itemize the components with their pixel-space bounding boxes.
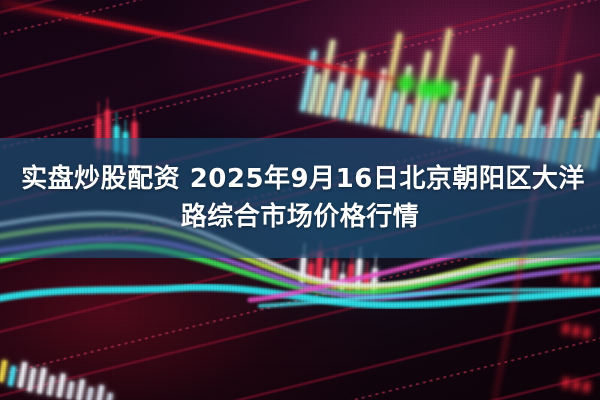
caption-line-1: 实盘炒股配资 2025年9月16日北京朝阳区大洋 — [15, 160, 585, 198]
ticker-badge-blob-a — [398, 76, 414, 91]
ticker-badge-blob-b — [418, 82, 452, 97]
price-axis-label: ▮▮▮ — [560, 317, 595, 342]
price-axis-label: ▮▮▮ — [560, 265, 595, 290]
price-axis-label: ▮▮▮ — [560, 371, 595, 396]
caption-line-2: 路综合市场价格行情 — [181, 198, 420, 236]
caption-band: 实盘炒股配资 2025年9月16日北京朝阳区大洋 路综合市场价格行情 — [0, 138, 600, 258]
screenshot-root: ▮▮▮▮▮▮▮▮▮ 实盘炒股配资 2025年9月16日北京朝阳区大洋 路综合市场… — [0, 0, 600, 400]
